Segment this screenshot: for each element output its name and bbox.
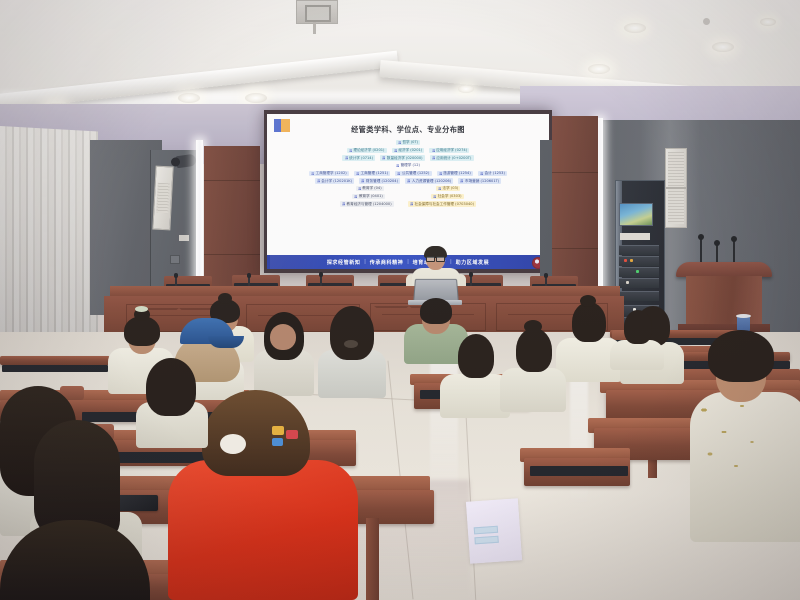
hair-tie	[344, 340, 358, 348]
bench-leg	[366, 518, 379, 600]
footer-slogan: 探求经管新知	[327, 259, 361, 266]
slide-row: 会计学 (120201K) 财务管理 (120204) 人力资源管理 (1202…	[271, 178, 545, 183]
grid-bullet-icon	[432, 149, 435, 152]
person-hair-bun	[580, 295, 596, 307]
slide-row: 哲学 (0T)	[271, 140, 545, 145]
lecture-hall-photo: 经管类学科、学位点、专业分布图 哲学 (0T) 理论经济学 (0201) 经济学…	[0, 0, 800, 600]
person-foreground-bottom	[0, 520, 150, 600]
slide-chip: 社会学 (0303)	[431, 194, 464, 199]
slide-chip-label: 理论经济学 (0201)	[353, 148, 384, 152]
slide-chip-label: 公共管理 (1252)	[402, 171, 429, 175]
grid-bullet-icon	[317, 179, 320, 182]
slide-row: 管理学 (12)	[271, 163, 545, 168]
av-status-led	[626, 281, 629, 284]
person-head	[270, 324, 296, 350]
paper-field	[474, 526, 498, 535]
person-ponytail-mid	[136, 358, 208, 448]
slide-chip-label: 管理学 (12)	[401, 163, 420, 167]
slide-chip: 旅游管理 (1254)	[437, 171, 473, 176]
slide-chip: 工商管理 (1251)	[354, 171, 390, 176]
slide-chip-label: 应用统计 (0+0200T)	[436, 156, 471, 160]
slide-chip-label: 人力资源管理 (120206)	[412, 179, 451, 183]
slide-chip: 公共管理 (1252)	[395, 171, 431, 176]
hair-tie	[220, 434, 246, 454]
downlight	[458, 85, 474, 93]
person-hair	[572, 302, 606, 342]
av-unit[interactable]	[619, 278, 659, 288]
grid-bullet-icon	[438, 187, 441, 190]
hair-clip	[286, 430, 298, 439]
slide-chip-label: 会计学 (120201K)	[321, 179, 352, 183]
slide-row: 工商管理学 (1202) 工商管理 (1251) 公共管理 (1252) 旅游管…	[271, 171, 545, 176]
slide-chip-label: 工商管理 (1251)	[361, 171, 388, 175]
podium-microphone	[700, 238, 702, 264]
hair-clip	[272, 426, 284, 435]
presenter-glasses-icon	[426, 256, 445, 260]
slide-chip-label: 市场营销 (120601T)	[465, 179, 499, 183]
wall-socket	[170, 255, 180, 264]
slide-chip: 统计学 (0714)	[342, 155, 375, 160]
slide-chip-label: 哲学 (0T)	[402, 140, 418, 144]
bench-cushion	[530, 466, 628, 476]
downlight	[245, 93, 267, 103]
slide-chip: 法学 (03)	[436, 186, 461, 191]
av-status-led	[630, 259, 633, 262]
slide-chip: 会计学 (120201K)	[315, 178, 355, 183]
slide-chip-label: 法学 (03)	[442, 186, 458, 190]
av-monitor-screen	[619, 203, 653, 226]
podium-microphone	[716, 244, 718, 264]
slide-chip-label: 教育经济与管理 (1204000)	[347, 202, 392, 206]
person-hair	[0, 520, 150, 600]
grid-bullet-icon	[407, 179, 410, 182]
downlight	[624, 23, 646, 33]
grid-bullet-icon	[342, 202, 345, 205]
slide-chip: 经济学 (0201)	[392, 148, 425, 153]
slide-chip: 教育经济与管理 (1204000)	[340, 201, 394, 206]
grid-bullet-icon	[361, 179, 364, 182]
slide-row: 教育学 (04) 法学 (03)	[271, 186, 545, 191]
person-torso	[610, 340, 664, 370]
slide-row: 理论经济学 (0201) 经济学 (0201) 应用经济学 (0274)	[271, 148, 545, 153]
grid-bullet-icon	[349, 149, 352, 152]
av-status-led	[624, 259, 627, 262]
slide-chip: 工商管理学 (1202)	[309, 171, 349, 176]
slide-chip: 应用经济学 (0274)	[429, 148, 469, 153]
slide-chip: 教育学 (04)	[356, 186, 384, 191]
lectern-body	[686, 276, 762, 328]
slide-chip: 管理学 (12)	[394, 163, 422, 168]
slide-body: 哲学 (0T) 理论经济学 (0201) 经济学 (0201) 应用经济学 (0…	[271, 140, 545, 247]
grid-bullet-icon	[460, 179, 463, 182]
slide-row: 统计学 (0714) 数量经济学 (020000) 应用统计 (0+0200T)	[271, 155, 545, 160]
slide-chip-label: 教育学 (0401)	[359, 194, 383, 198]
slide-chip-label: 数量经济学 (020000)	[387, 156, 423, 160]
wall-speaker-left	[152, 166, 173, 231]
slide-chip-label: 社会保障与社会工作管理 (0703040)	[415, 202, 474, 206]
grid-bullet-icon	[480, 172, 483, 175]
slide-chip: 会计 (1253)	[478, 171, 507, 176]
person-torso	[690, 392, 800, 542]
slide-chip-label: 社会学 (0303)	[438, 194, 462, 198]
slide-chip-label: 教育学 (04)	[362, 186, 381, 190]
slide-chip: 应用统计 (0+0200T)	[430, 155, 474, 160]
podium-microphone	[733, 240, 735, 264]
footer-separator: |	[364, 259, 365, 265]
slide-title: 经管类学科、学位点、专业分布图	[267, 125, 549, 135]
footer-slogan: 传承商科精神	[370, 259, 404, 266]
grid-bullet-icon	[345, 156, 348, 159]
person-bun-right-c	[500, 328, 566, 412]
grid-bullet-icon	[394, 149, 397, 152]
grid-bullet-icon	[358, 187, 361, 190]
slide-chip-label: 工商管理学 (1202)	[316, 171, 347, 175]
downlight	[588, 64, 610, 74]
paper-field	[474, 536, 498, 545]
person-torso	[168, 460, 358, 600]
person-torso	[500, 368, 566, 412]
person-ponytail-center2	[318, 306, 386, 398]
grid-bullet-icon	[356, 172, 359, 175]
person-hair-bun	[524, 320, 542, 333]
air-vent-icon	[296, 0, 338, 24]
av-unit[interactable]	[619, 291, 659, 301]
person-ponytail-center	[254, 312, 314, 396]
av-rack-label	[620, 233, 650, 240]
grid-bullet-icon	[432, 156, 435, 159]
grid-bullet-icon	[396, 164, 399, 167]
person-hair	[458, 334, 494, 378]
av-unit[interactable]	[619, 245, 659, 255]
slide-chip: 财务管理 (120204)	[359, 178, 400, 183]
slide-chip: 市场营销 (120601T)	[458, 178, 501, 183]
person-hair	[708, 330, 774, 382]
slide-chip: 人力资源管理 (120206)	[405, 178, 453, 183]
slide-chip-label: 旅游管理 (1254)	[443, 171, 470, 175]
slide-chip-label: 财务管理 (120204)	[366, 179, 398, 183]
bench-row	[0, 356, 110, 365]
slide-chip: 数量经济学 (020000)	[380, 155, 425, 160]
person-hair	[330, 306, 374, 360]
smoke-detector-icon	[703, 18, 710, 25]
dropped-paper-sheet	[466, 498, 522, 563]
grid-bullet-icon	[410, 202, 413, 205]
cap-brim	[208, 336, 244, 348]
person-hair	[516, 328, 552, 372]
projection-screen: 经管类学科、学位点、专业分布图 哲学 (0T) 理论经济学 (0201) 经济学…	[267, 114, 549, 269]
person-hair	[420, 298, 452, 324]
slide-chip: 教育学 (0401)	[352, 194, 385, 199]
av-unit[interactable]	[619, 267, 659, 277]
slide-chip-label: 会计 (1253)	[485, 171, 505, 175]
slide-chip: 理论经济学 (0201)	[347, 148, 387, 153]
grid-bullet-icon	[397, 172, 400, 175]
floor-reflection-highlight	[570, 360, 588, 510]
bench-cushion	[2, 365, 108, 372]
slide-row: 教育经济与管理 (1204000) 社会保障与社会工作管理 (0703040)	[271, 201, 545, 206]
downlight	[178, 93, 200, 103]
person-right-c-partial	[610, 310, 664, 370]
grid-bullet-icon	[433, 195, 436, 198]
grid-bullet-icon	[439, 172, 442, 175]
grid-bullet-icon	[382, 156, 385, 159]
wall-speaker-right	[665, 148, 687, 228]
slide-row: 教育学 (0401) 社会学 (0303)	[271, 194, 545, 199]
person-hair-bun	[218, 293, 232, 304]
grid-bullet-icon	[311, 172, 314, 175]
slide-chip-label: 统计学 (0714)	[349, 156, 373, 160]
lectern-top	[676, 262, 772, 277]
hair-tie	[135, 306, 148, 312]
hair-clip	[272, 438, 283, 446]
person-hair	[146, 358, 196, 416]
person-floral-shirt	[690, 330, 800, 542]
slide-chip: 哲学 (0T)	[396, 140, 421, 145]
downlight	[712, 42, 734, 52]
person-hair	[624, 310, 652, 344]
av-status-led	[636, 270, 639, 273]
vent-stem	[313, 22, 316, 34]
wall-plate	[179, 235, 189, 241]
slide-chip: 社会保障与社会工作管理 (0703040)	[408, 201, 476, 206]
downlight	[760, 18, 776, 26]
grid-bullet-icon	[354, 195, 357, 198]
grid-bullet-icon	[398, 141, 401, 144]
slide-chip-label: 应用经济学 (0274)	[436, 148, 467, 152]
slide-chip-label: 经济学 (0201)	[398, 148, 422, 152]
